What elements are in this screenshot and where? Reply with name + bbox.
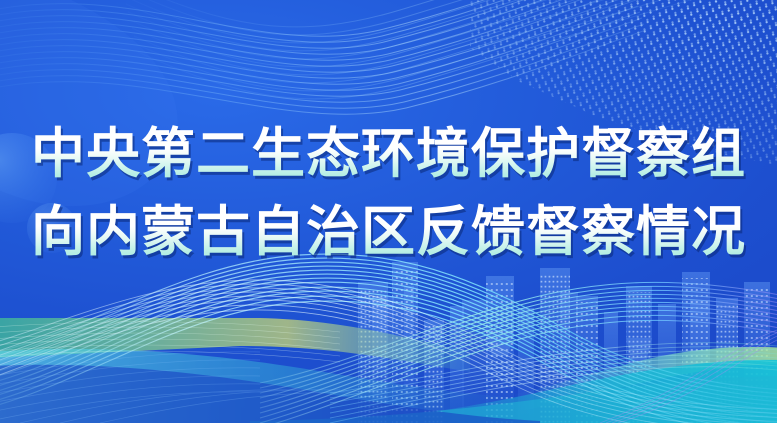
- wave-lines-layer: [0, 0, 777, 423]
- wave-line-group: [0, 254, 777, 423]
- news-banner: 中央第二生态环境保护督察组 向内蒙古自治区反馈督察情况: [0, 0, 777, 423]
